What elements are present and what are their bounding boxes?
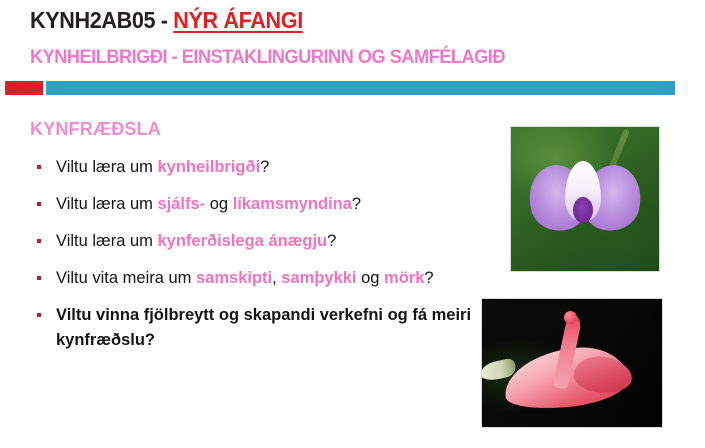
section-heading: KYNFRÆÐSLA xyxy=(30,119,161,140)
bullet-highlight-text: kynheilbrigði xyxy=(157,158,260,176)
bullet-text: Viltu læra um xyxy=(56,195,157,213)
bullet-highlight-text: samskipti xyxy=(196,269,272,287)
bullet-text: og xyxy=(357,269,385,287)
divider-bar-teal xyxy=(46,81,675,95)
bullet-item: Viltu vinna fjölbreytt og skapandi verke… xyxy=(30,303,475,353)
bullet-marker-icon xyxy=(37,276,41,280)
bullet-item: Viltu læra um kynheilbrigði? xyxy=(30,155,475,180)
pink-anthurium-photo xyxy=(481,298,663,428)
bullet-highlight-text: sjálfs- xyxy=(157,195,205,213)
bullet-text: ? xyxy=(352,195,361,213)
bullet-highlight-text: kynferðislega ánægju xyxy=(157,232,327,250)
anthurium-spadix-tip-shape xyxy=(564,311,577,324)
violet-pea-flower-photo xyxy=(510,126,660,272)
bullet-text: , xyxy=(272,269,281,287)
bullet-text: ? xyxy=(260,158,269,176)
bullet-item: Viltu læra um kynferðislega ánægju? xyxy=(30,229,475,254)
bullet-marker-icon xyxy=(37,165,41,169)
bullet-highlight-text: samþykki xyxy=(281,269,356,287)
bullet-marker-icon xyxy=(37,313,41,317)
bullet-highlight-text: líkamsmyndina xyxy=(233,195,352,213)
bullet-marker-icon xyxy=(37,239,41,243)
bullet-text: og xyxy=(205,195,233,213)
bullet-list: Viltu læra um kynheilbrigði?Viltu læra u… xyxy=(30,155,475,353)
bullet-marker-icon xyxy=(37,202,41,206)
slide-title: KYNH2AB05 - NÝR ÁFANGI xyxy=(30,7,303,34)
slide-title-accent: NÝR ÁFANGI xyxy=(173,7,303,33)
bullet-item: Viltu læra um sjálfs- og líkamsmyndina? xyxy=(30,192,475,217)
presentation-slide: KYNH2AB05 - NÝR ÁFANGI KYNHEILBRIGÐI - E… xyxy=(0,0,705,448)
divider-bar-red xyxy=(5,81,43,95)
bullet-text: Viltu læra um xyxy=(56,232,157,250)
bullet-text: ? xyxy=(424,269,433,287)
slide-subtitle: KYNHEILBRIGÐI - EINSTAKLINGURINN OG SAMF… xyxy=(30,46,505,69)
bullet-text: Viltu læra um xyxy=(56,158,157,176)
flower-center-shape xyxy=(573,197,593,223)
slide-title-course-code: KYNH2AB05 - xyxy=(30,7,173,33)
bullet-text: ? xyxy=(327,232,336,250)
bullet-text: Viltu vita meira um xyxy=(56,269,196,287)
bullet-item: Viltu vita meira um samskipti, samþykki … xyxy=(30,266,475,291)
bullet-highlight-text: mörk xyxy=(384,269,424,287)
bullet-text: Viltu vinna fjölbreytt og skapandi verke… xyxy=(56,306,471,349)
